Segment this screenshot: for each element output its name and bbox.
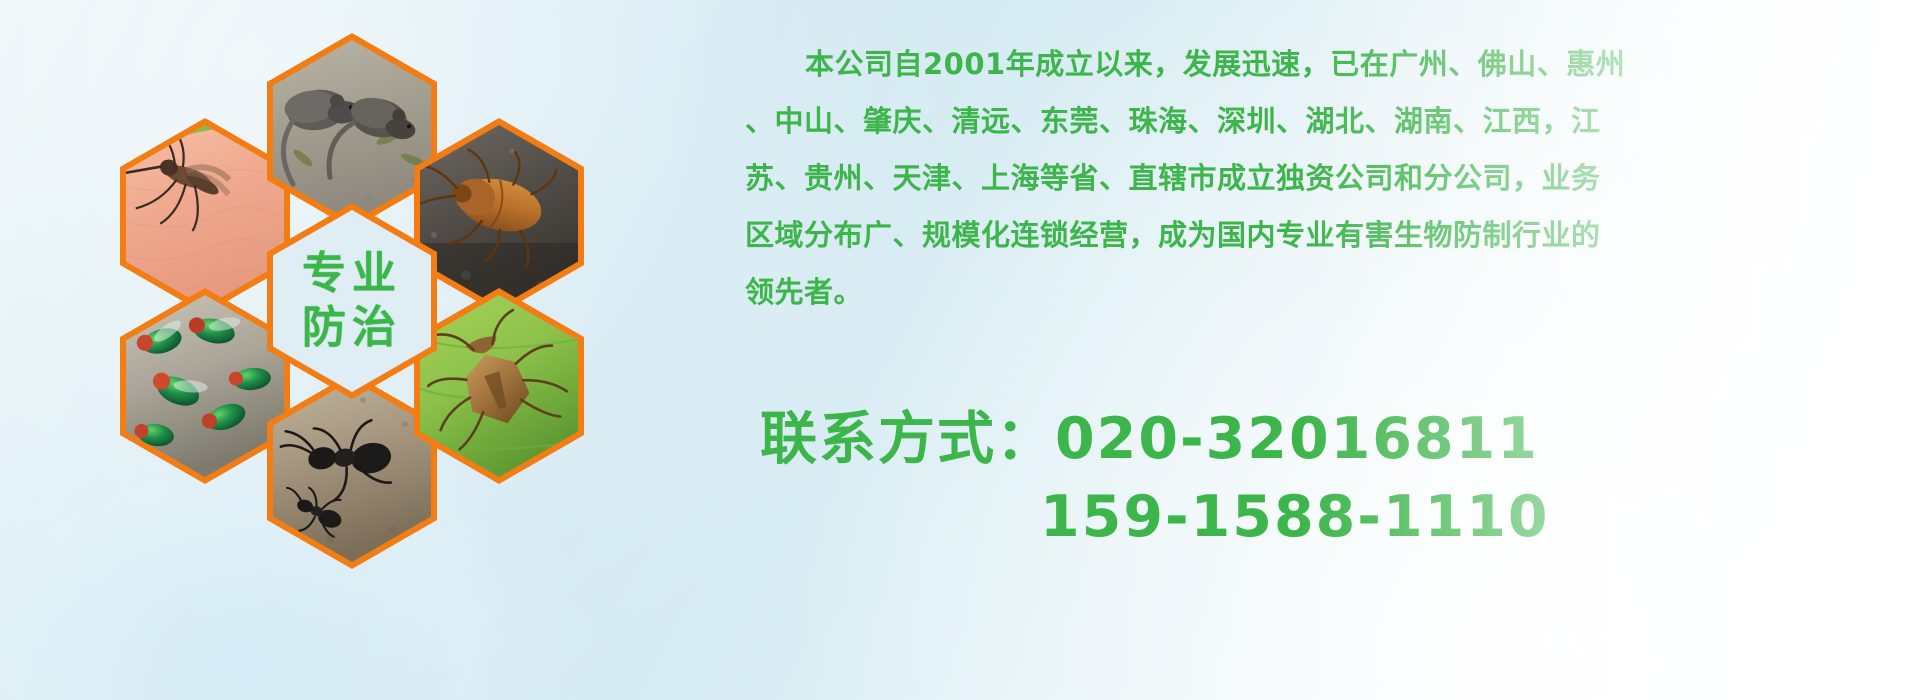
intro-line-1: 本公司自2001年成立以来，发展迅速，已在广州、佛山、惠州 bbox=[745, 36, 1905, 93]
hex-photo-rats bbox=[267, 33, 437, 229]
contact-block: 联系方式：020-32016811 159-1588-1110 bbox=[760, 400, 1760, 556]
stink-bug-icon bbox=[420, 295, 578, 477]
intro-line-4: 区域分布广、规模化连锁经营，成为国内专业有害生物防制行业的 bbox=[745, 207, 1905, 264]
company-intro-paragraph: 本公司自2001年成立以来，发展迅速，已在广州、佛山、惠州 、中山、肇庆、清远、… bbox=[745, 36, 1905, 321]
intro-line-5: 领先者。 bbox=[745, 264, 1905, 321]
contact-line-primary: 联系方式：020-32016811 bbox=[760, 400, 1760, 478]
intro-line-2: 、中山、肇庆、清远、东莞、珠海、深圳、湖北、湖南、江西，江 bbox=[745, 93, 1905, 150]
hex-badge-specialty: 专业 防治 bbox=[267, 203, 437, 399]
hex-photo-ants bbox=[267, 373, 437, 569]
mosquito-icon bbox=[126, 125, 284, 307]
promo-banner: 专业 防治 本公司自2001年成立以来，发展迅速，已在广州、佛山、惠州 、中山、… bbox=[0, 0, 1920, 700]
phone-secondary[interactable]: 159-1588-1110 bbox=[760, 478, 1760, 556]
cockroach-icon bbox=[420, 125, 578, 307]
hex-photo-stink-bug bbox=[414, 288, 584, 484]
ant-icon bbox=[273, 380, 431, 562]
hex-photo-mosquito bbox=[120, 118, 290, 314]
intro-line-3: 苏、贵州、天津、上海等省、直辖市成立独资公司和分公司，业务 bbox=[745, 150, 1905, 207]
fly-icon bbox=[126, 295, 284, 477]
hexagon-photo-cluster: 专业 防治 bbox=[80, 8, 600, 578]
rat-icon bbox=[273, 40, 431, 222]
phone-primary[interactable]: 020-32016811 bbox=[1055, 406, 1539, 472]
hex-photo-flies bbox=[120, 288, 290, 484]
contact-label: 联系方式： bbox=[760, 406, 1055, 472]
badge-text: 专业 防治 bbox=[302, 247, 402, 354]
badge-line-2: 防治 bbox=[302, 301, 402, 355]
badge-line-1: 专业 bbox=[302, 247, 402, 301]
hex-photo-cockroach bbox=[414, 118, 584, 314]
